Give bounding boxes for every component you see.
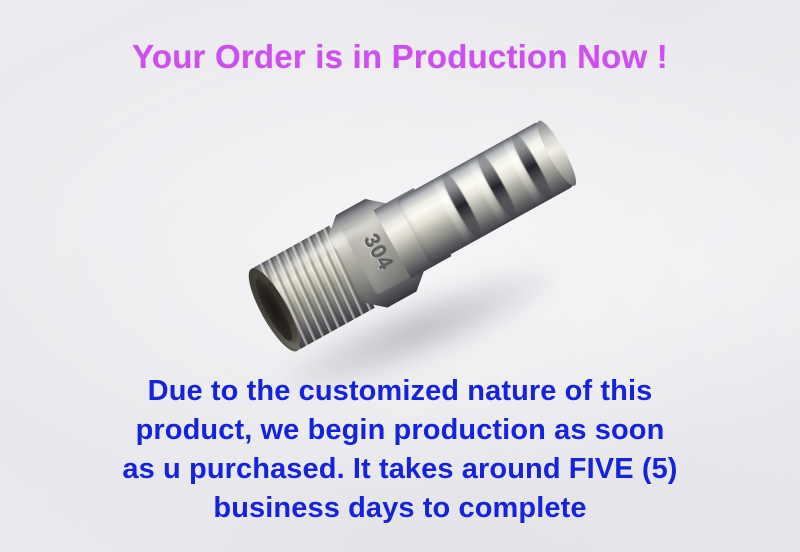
body-line: as u purchased. It takes around FIVE (5) xyxy=(0,450,800,489)
product-photo: 304 xyxy=(0,110,800,375)
body-line: business days to complete xyxy=(0,489,800,528)
body-message: Due to the customized nature of this pro… xyxy=(0,372,800,528)
body-line: Due to the customized nature of this xyxy=(0,372,800,411)
promotional-banner: Your Order is in Production Now ! 304 Du… xyxy=(0,0,800,552)
body-line: product, we begin production as soon xyxy=(0,411,800,450)
headline-text: Your Order is in Production Now ! xyxy=(0,38,800,76)
